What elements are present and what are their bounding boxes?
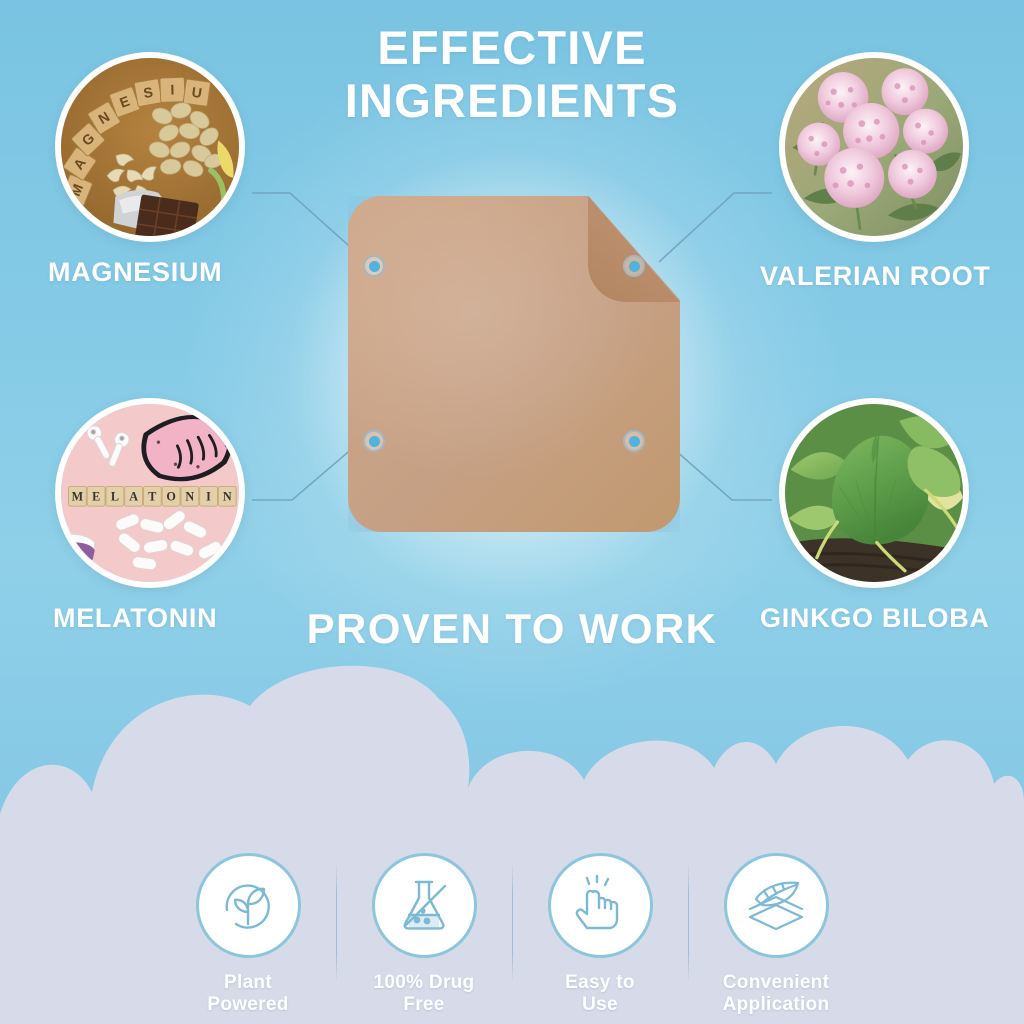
svg-text:M: M <box>72 489 84 503</box>
connector-dot-ginkgo-biloba <box>623 430 645 452</box>
svg-text:T: T <box>148 489 156 503</box>
feature-list: Plant Powered <box>0 853 1024 1016</box>
magnesium-photo: M A G N E S I U <box>55 52 245 242</box>
ingredient-valerian-root: VALERIAN ROOT <box>779 52 969 242</box>
feather-patch-layers-icon <box>744 873 808 937</box>
ingredient-magnesium: M A G N E S I U <box>55 52 245 242</box>
svg-text:N: N <box>223 489 232 503</box>
feature-badge-convenient-application <box>724 853 829 958</box>
feature-label-convenient-application: Convenient Application <box>723 972 830 1016</box>
feature-label-easy-to-use: Easy to Use <box>565 972 635 1016</box>
feature-convenient-application: Convenient Application <box>689 853 864 1016</box>
ingredient-label-magnesium: MAGNESIUM <box>48 257 368 288</box>
feature-label-plant-powered: Plant Powered <box>207 972 288 1016</box>
feature-badge-easy-to-use <box>548 853 653 958</box>
svg-text:I: I <box>206 489 211 503</box>
product-patch <box>348 196 680 532</box>
feature-easy-to-use: Easy to Use <box>513 853 688 1016</box>
feature-plant-powered: Plant Powered <box>161 853 336 1016</box>
svg-text:O: O <box>166 489 175 503</box>
infographic-canvas: EFFECTIVE INGREDIENTS <box>0 0 1024 1024</box>
feature-drug-free: 100% Drug Free <box>337 853 512 1016</box>
tapping-hand-icon <box>569 874 631 936</box>
feature-badge-drug-free <box>372 853 477 958</box>
valerian-root-photo <box>779 52 969 242</box>
ginkgo-biloba-photo <box>779 398 969 588</box>
ingredient-melatonin: M E L A T O N I N <box>55 398 245 588</box>
feature-label-drug-free: 100% Drug Free <box>374 972 475 1016</box>
feature-badge-plant-powered <box>196 853 301 958</box>
connector-dot-valerian-root <box>623 255 645 277</box>
melatonin-photo: M E L A T O N I N <box>55 398 245 588</box>
svg-text:E: E <box>92 489 100 503</box>
tagline: PROVEN TO WORK <box>0 605 1024 653</box>
svg-text:A: A <box>129 489 138 503</box>
svg-text:N: N <box>185 489 194 503</box>
no-flask-icon <box>393 874 455 936</box>
svg-text:I: I <box>170 81 174 97</box>
plant-sprout-icon <box>217 874 279 936</box>
ingredient-label-valerian-root: VALERIAN ROOT <box>760 261 1024 292</box>
connector-dot-melatonin <box>363 430 385 452</box>
ingredient-ginkgo-biloba: GINKGO BILOBA <box>779 398 969 588</box>
svg-text:L: L <box>111 489 119 503</box>
